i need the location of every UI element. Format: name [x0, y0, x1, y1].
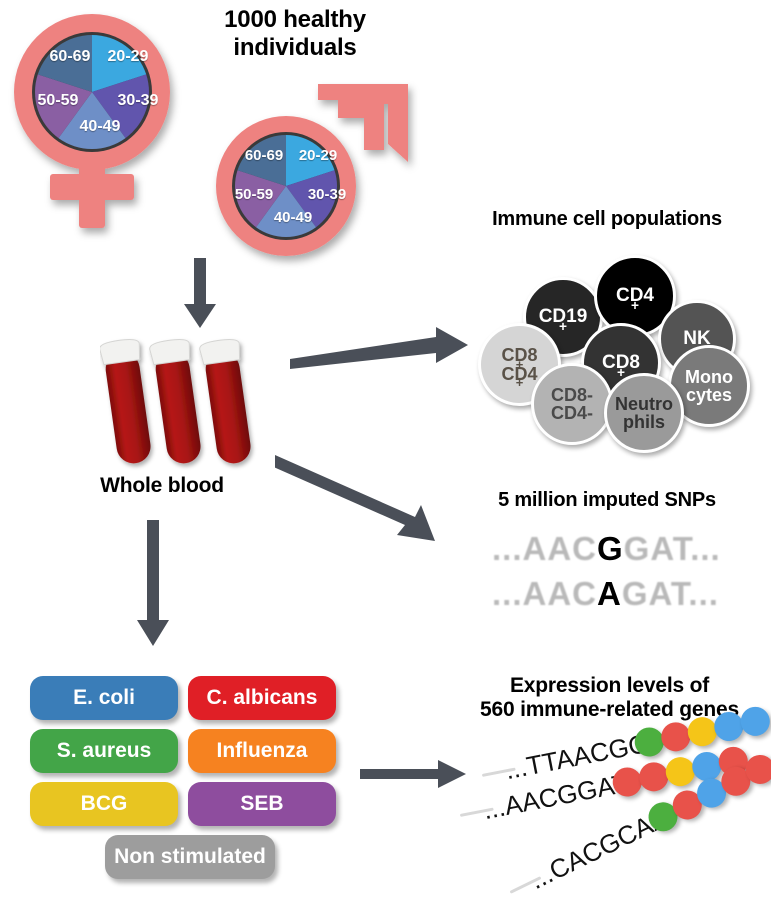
male-symbol-svg	[198, 72, 413, 262]
stimulation-label: BCG	[81, 792, 128, 816]
female-age-pie	[35, 35, 149, 149]
immune-title-text: Immune cell populations	[492, 208, 722, 230]
female-symbol-svg	[8, 8, 198, 238]
section-title-snps: 5 million imputed SNPs	[452, 489, 762, 512]
stimulation-label: E. coli	[73, 686, 135, 710]
stimulation-seb[interactable]: SEB	[188, 782, 336, 826]
stimulation-influenza[interactable]: Influenza	[188, 729, 336, 773]
blood-tube-3	[199, 338, 256, 466]
cohort-title-text: 1000 healthy individuals	[224, 6, 366, 61]
snp-suffix-1: GAT...	[624, 530, 721, 567]
immune-cell-cluster: CD19+CD4+NKCD8+CD4+CD8+MonocytesCD8-CD4-…	[468, 245, 768, 425]
page-title-cohort: 1000 healthy individuals	[180, 6, 410, 61]
snp-prefix-1: ...AAC	[492, 530, 597, 567]
stimulation-bcg[interactable]: BCG	[30, 782, 178, 826]
stimulation-e-coli[interactable]: E. coli	[30, 676, 178, 720]
blood-tubes-svg	[100, 332, 280, 482]
snps-title-text: 5 million imputed SNPs	[498, 489, 716, 511]
whole-blood-text: Whole blood	[100, 474, 224, 497]
stimulation-panel: E. coliC. albicansS. aureusInfluenzaBCGS…	[30, 676, 350, 896]
stimulation-label: Influenza	[216, 739, 307, 763]
label-whole-blood: Whole blood	[72, 474, 252, 498]
stimulation-label: S. aureus	[57, 739, 152, 763]
arrow-blood-to-snps	[275, 455, 455, 545]
arrow-blood-to-stimulations	[134, 520, 174, 650]
snp-prefix-2: ...AAC	[492, 575, 597, 612]
snp-variant-1: G	[597, 530, 624, 567]
immune-cell-label: CD4+	[616, 286, 654, 305]
male-gender-symbol: 20-29 30-39 40-49 50-59 60-69	[198, 72, 413, 262]
male-age-pie	[235, 135, 337, 237]
immune-cell-label: CD19+	[539, 307, 588, 326]
snp-variant-2: A	[597, 575, 622, 612]
blood-tube-1	[100, 338, 156, 466]
section-title-immune-cells: Immune cell populations	[452, 208, 762, 231]
expression-bead-red	[637, 760, 671, 794]
expression-strands: ...TTAACGG...AACGGAT...CACGCAA	[460, 740, 771, 920]
expression-bead-blue	[712, 710, 746, 744]
arrow-cohort-to-blood	[180, 258, 220, 330]
immune-cell-label: CD8-CD4-	[551, 386, 593, 423]
arrow-blood-to-immune-cells	[290, 325, 470, 370]
snp-sequence-2: ...AACAGAT...	[492, 575, 742, 619]
female-gender-symbol: 20-29 30-39 40-49 50-59 60-69	[8, 8, 198, 238]
stimulation-s-aureus[interactable]: S. aureus	[30, 729, 178, 773]
stimulation-label: Non stimulated	[114, 845, 266, 869]
expression-bead-yellow	[685, 715, 719, 749]
immune-cell-label: Neutrophils	[615, 395, 673, 432]
immune-cell-label: CD8+	[602, 353, 640, 372]
stimulation-c-albicans[interactable]: C. albicans	[188, 676, 336, 720]
expression-bead-blue	[738, 704, 771, 738]
whole-blood-tubes	[100, 332, 280, 482]
immune-cell-label: Monocytes	[685, 368, 733, 405]
immune-cell-cd8-cd4[interactable]: CD8-CD4-	[531, 363, 613, 445]
stimulation-label: SEB	[240, 792, 283, 816]
snp-sequence-1: ...AACGGAT...	[492, 530, 742, 574]
snp-suffix-2: GAT...	[622, 575, 719, 612]
stimulation-label: C. albicans	[207, 686, 318, 710]
immune-cell-label: CD8+CD4+	[501, 346, 537, 383]
immune-cell-neutro-phils[interactable]: Neutrophils	[604, 373, 684, 453]
expression-bead-red	[659, 720, 693, 754]
blood-tube-2	[149, 338, 206, 466]
arrow-stimulations-to-expression	[360, 758, 470, 790]
expression-title-line1: Expression levels of	[452, 674, 767, 698]
stimulation-non-stimulated[interactable]: Non stimulated	[105, 835, 275, 879]
